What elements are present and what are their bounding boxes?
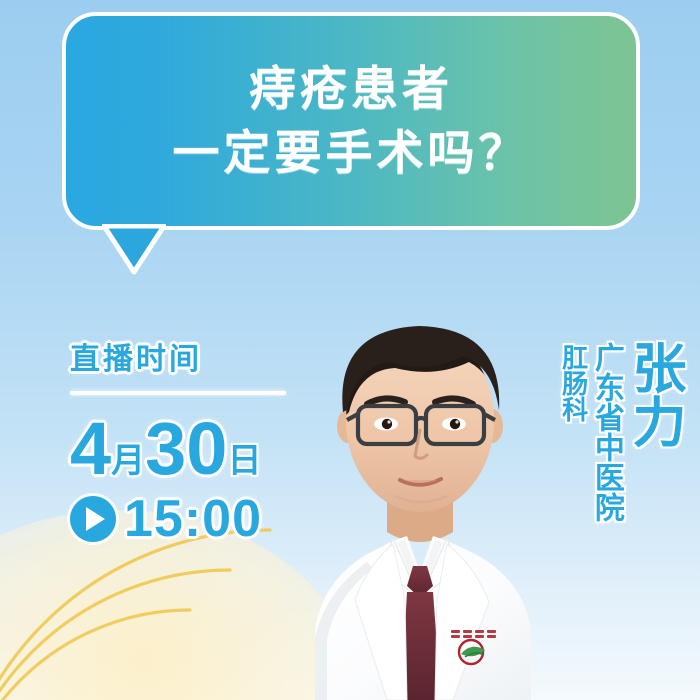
speaker-info-block: 肛肠科 广东省中医院 张力: [560, 340, 682, 522]
schedule-date: 4 月 30 日: [70, 415, 310, 483]
speaker-department: 肛肠科: [560, 344, 587, 422]
glasses-icon: [347, 406, 495, 444]
speaker-name: 张力: [626, 340, 682, 448]
schedule-title: 直播时间: [70, 345, 310, 375]
headline-speech-bubble: 痔疮患者 一定要手术吗？: [62, 12, 640, 262]
hospital-logo: [451, 630, 496, 664]
speaker-organization: 广东省中医院: [591, 342, 622, 522]
schedule-info-block: 直播时间 4 月 30 日 15:00: [70, 345, 310, 545]
headline-line-1: 痔疮患者: [249, 60, 453, 118]
schedule-time: 15:00: [124, 493, 262, 545]
live-stream-poster: 痔疮患者 一定要手术吗？ 直播时间 4 月 30 日 15:00: [0, 0, 700, 700]
headline-bubble-body: 痔疮患者 一定要手术吗？: [62, 12, 640, 230]
schedule-time-row: 15:00: [70, 493, 310, 545]
schedule-day-unit: 日: [227, 444, 261, 483]
speech-bubble-tail: [102, 224, 166, 276]
headline-line-2: 一定要手术吗？: [173, 124, 530, 182]
play-triangle: [86, 507, 105, 531]
schedule-day-value: 30: [145, 415, 227, 483]
schedule-divider: [70, 391, 286, 395]
schedule-month-value: 4: [70, 415, 111, 483]
play-icon[interactable]: [70, 496, 116, 542]
schedule-month-unit: 月: [111, 444, 145, 483]
